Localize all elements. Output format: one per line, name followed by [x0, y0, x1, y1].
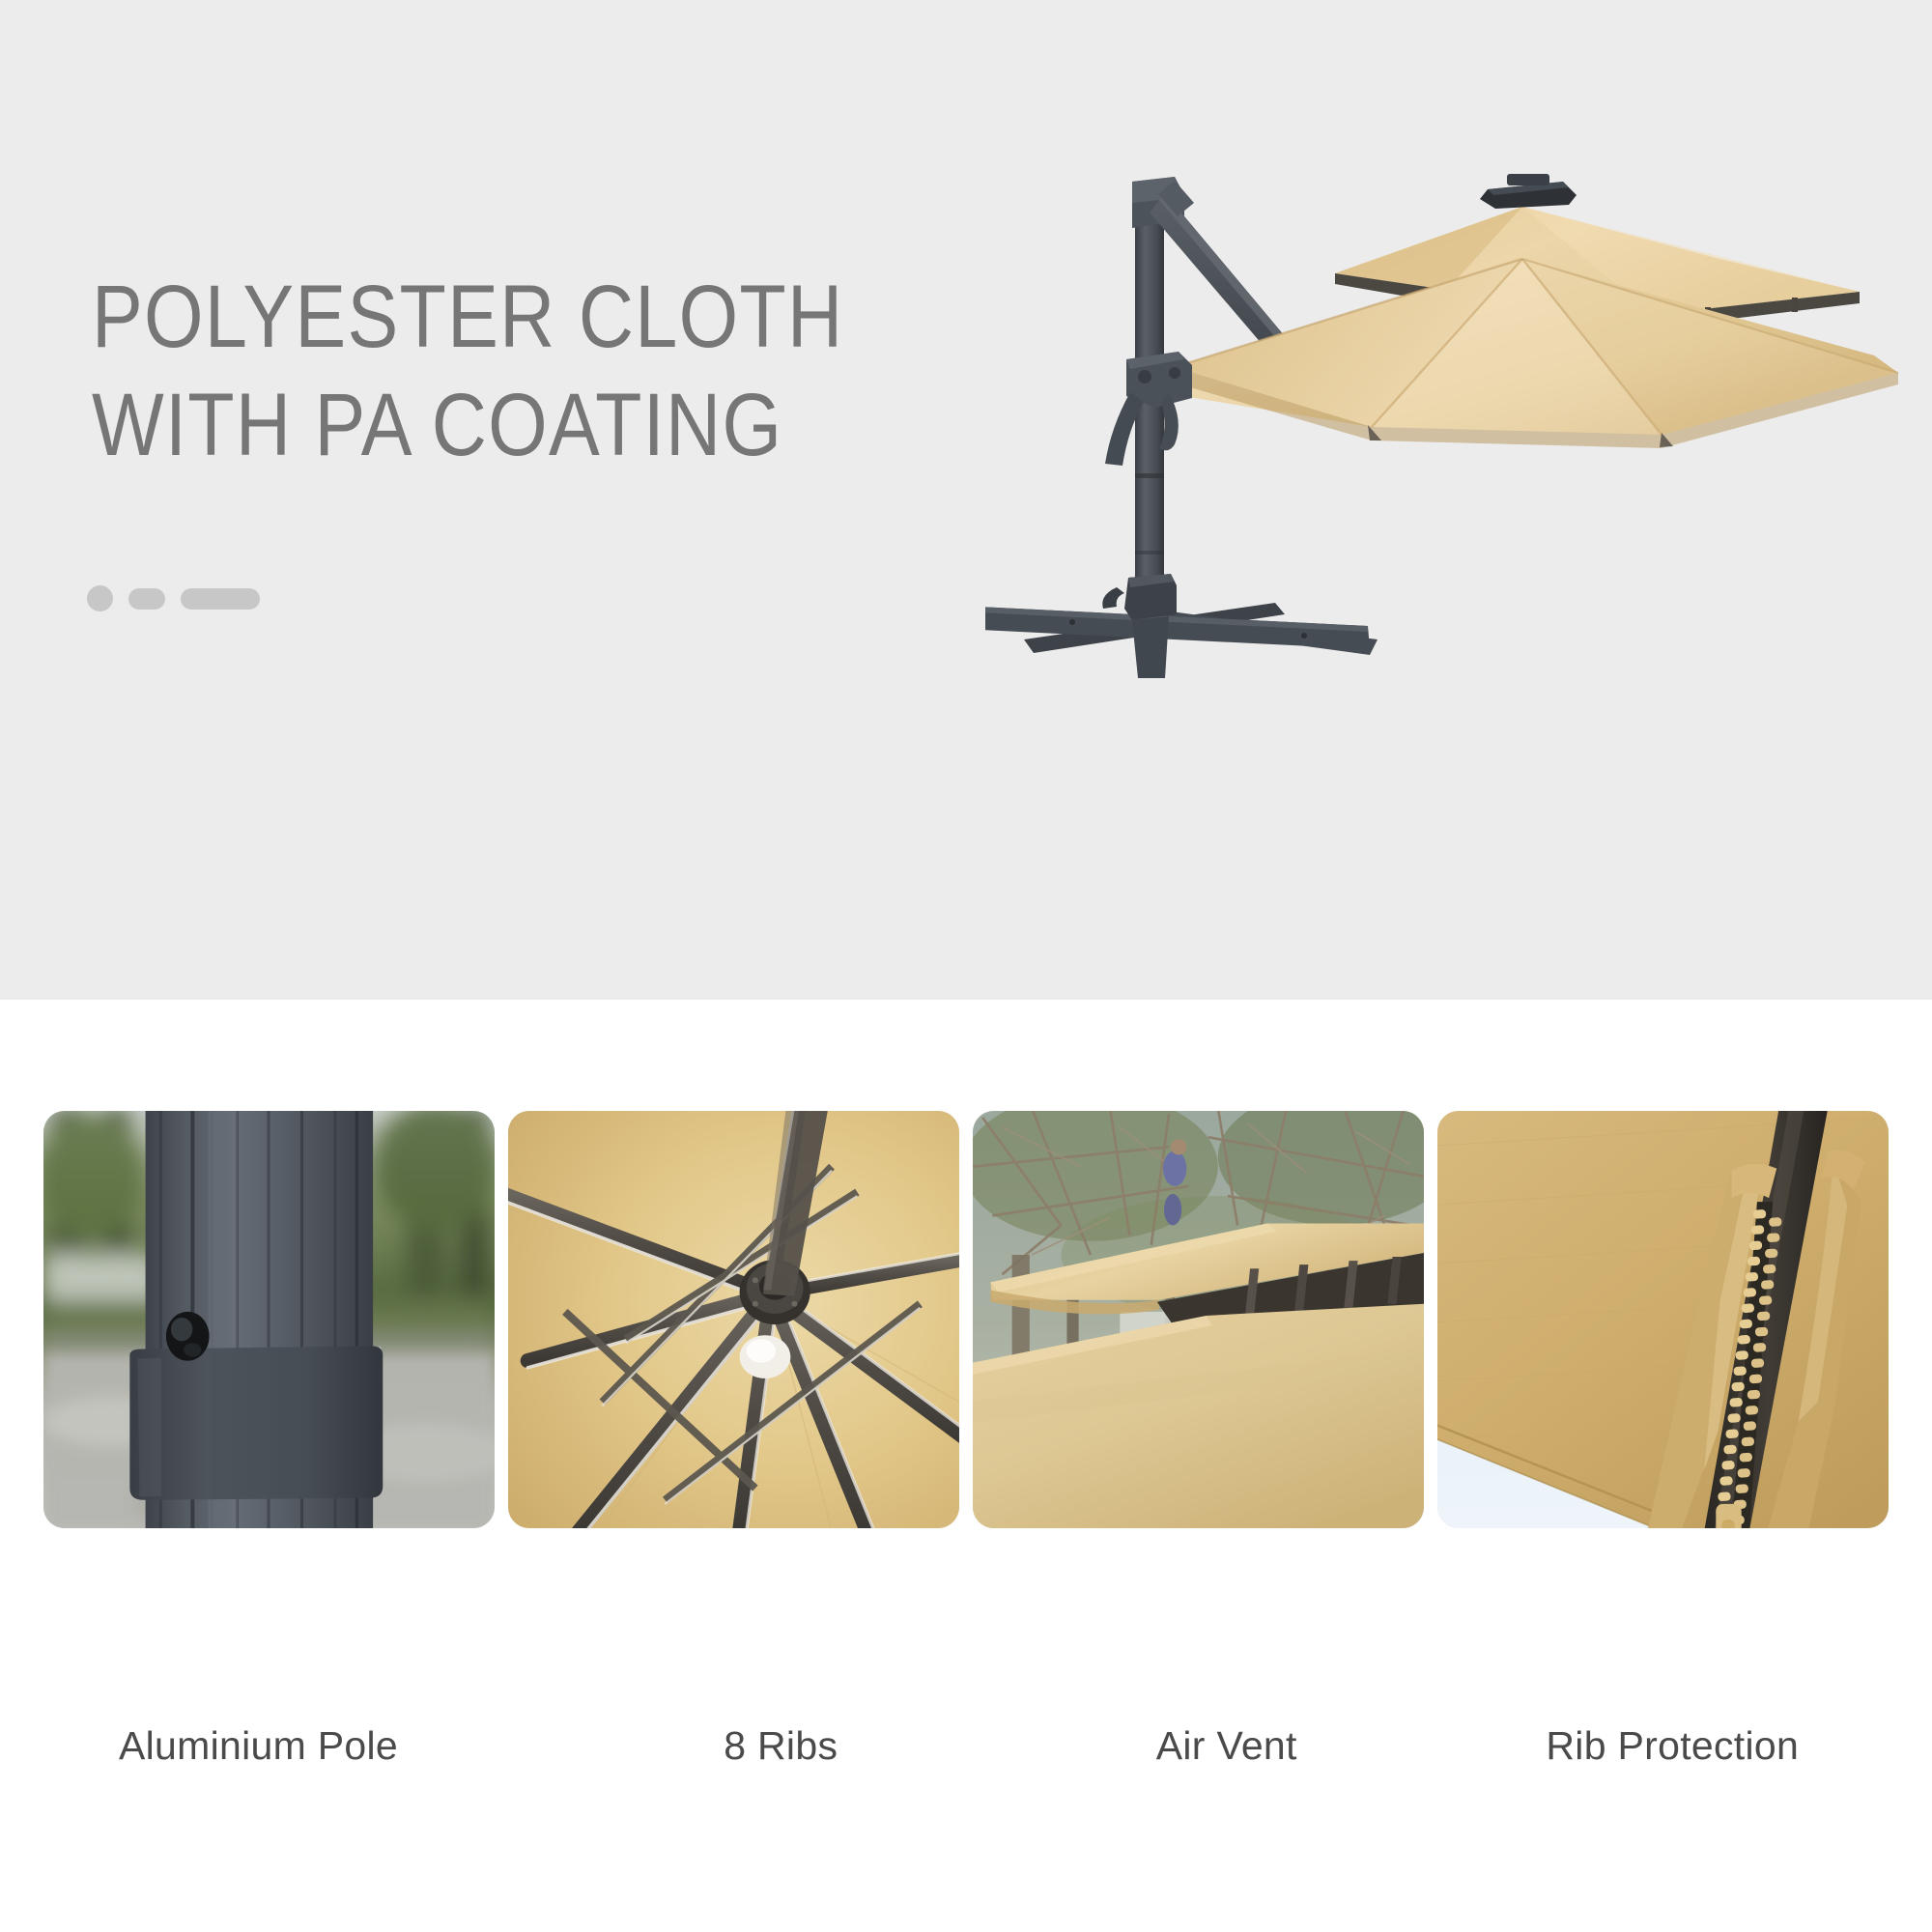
caption-label: Aluminium Pole — [119, 1723, 398, 1769]
feature-caption-row: Aluminium Pole 8 Ribs Air Vent Rib Prote… — [0, 1692, 1932, 1799]
caption-eight-ribs: 8 Ribs — [565, 1692, 998, 1799]
feature-photo-air-vent[interactable] — [973, 1111, 1424, 1528]
feature-photo-aluminium-pole[interactable] — [43, 1111, 495, 1528]
pole-push-button-knob — [166, 1312, 210, 1361]
hexagon-bullet-icon — [579, 1725, 623, 1766]
solar-led-cap-icon — [1480, 174, 1577, 209]
feature-photo-rib-protection[interactable] — [1437, 1111, 1889, 1528]
caption-aluminium-pole: Aluminium Pole — [43, 1692, 552, 1799]
hero-panel: POLYESTER CLOTH WITH PA COATING — [0, 0, 1932, 1000]
cantilever-patio-umbrella-image — [985, 145, 1903, 908]
zipper-pull — [1716, 1504, 1741, 1528]
caption-air-vent: Air Vent — [1010, 1692, 1443, 1799]
feature-photo-grid — [0, 1111, 1932, 1690]
caption-label: Air Vent — [1156, 1723, 1297, 1769]
caption-rib-protection: Rib Protection — [1457, 1692, 1889, 1799]
accent-short-dash-icon — [128, 588, 165, 610]
hexagon-bullet-icon — [57, 1725, 101, 1766]
hexagon-bullet-icon — [1470, 1725, 1515, 1766]
accent-long-dash-icon — [181, 588, 260, 610]
feature-photo-eight-ribs[interactable] — [508, 1111, 959, 1528]
pole-sleeve-collar — [129, 1346, 383, 1499]
hexagon-bullet-icon — [1024, 1725, 1068, 1766]
umbrella-cross-base — [985, 574, 1378, 678]
caption-label: Rib Protection — [1546, 1723, 1799, 1769]
dot-dash-accent — [87, 585, 260, 611]
accent-dot-icon — [87, 585, 113, 611]
page-headline: POLYESTER CLOTH WITH PA COATING — [92, 263, 923, 479]
caption-label: 8 Ribs — [724, 1723, 838, 1769]
product-feature-page: POLYESTER CLOTH WITH PA COATING — [0, 0, 1932, 1932]
